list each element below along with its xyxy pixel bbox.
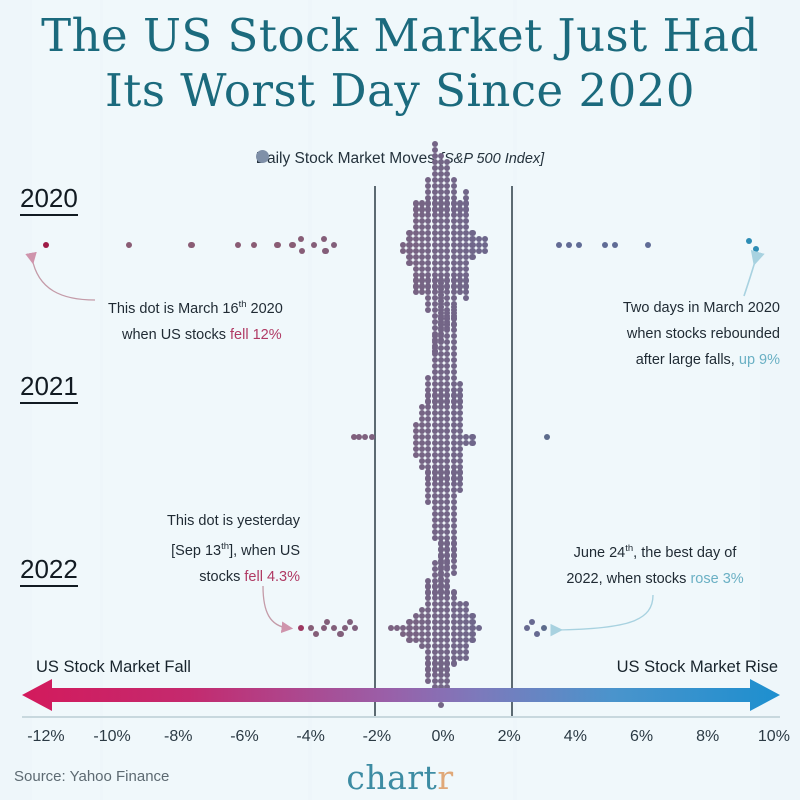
swarm-dot [432,236,438,242]
swarm-dot [463,260,469,266]
swarm-dot [432,428,438,434]
swarm-dot [444,195,450,201]
swarm-dot [444,206,450,212]
swarm-dot [432,572,438,578]
swarm-dot [331,242,337,248]
swarm-dot [425,206,431,212]
swarm-dot [432,266,438,272]
swarm-dot [451,422,457,428]
swarm-dot [469,236,475,242]
axis-tick: 4% [564,728,587,746]
swarm-dot [438,595,444,601]
annotation-rebound-line1: Two days in March 2020 [500,295,780,321]
arrow-june24 [556,595,653,630]
swarm-dot [476,625,482,631]
swarm-dot [451,523,457,529]
swarm-dot [438,398,444,404]
swarm-dot [425,254,431,260]
swarm-dot [566,242,572,248]
swarm-dot [444,345,450,351]
swarm-dot [413,619,419,625]
swarm-dot [369,434,375,440]
swarm-dot [444,363,450,369]
year-label-2021: 2021 [20,371,78,404]
swarm-dot [482,236,488,242]
swarm-dot [612,242,618,248]
swarm-dot [438,613,444,619]
swarm-dot [432,458,438,464]
swarm-dot [451,183,457,189]
swarm-dot [451,333,457,339]
swarm-dot [444,212,450,218]
swarm-dot [534,631,540,637]
swarm-dot [425,410,431,416]
swarm-dot [451,637,457,643]
year-label-2020: 2020 [20,183,78,216]
swarm-dot [432,452,438,458]
swarm-dot [438,452,444,458]
swarm-dot [419,236,425,242]
annotation-yesterday: This dot is yesterday [Sep 13th], when U… [60,508,300,590]
swarm-dot [235,242,241,248]
swarm-dot [463,637,469,643]
swarm-dot [400,631,406,637]
swarm-dot [444,165,450,171]
swarm-dot [298,625,304,631]
swarm-dot [444,452,450,458]
swarm-dot [451,254,457,260]
swarm-dot [451,177,457,183]
swarm-dot [444,595,450,601]
swarm-dot [438,292,444,298]
swarm-dot [438,266,444,272]
swarm-dot [432,183,438,189]
swarm-dot [413,422,419,428]
swarm-dot [432,637,438,643]
swarm-dot [457,218,463,224]
swarm-dot [419,266,425,272]
swarm-dot [425,637,431,643]
swarm-dot [438,200,444,206]
swarm-dot [451,398,457,404]
swarm-dot [469,637,475,643]
swarm-dot [451,660,457,666]
swarm-dot [432,607,438,613]
swarm-dot [457,224,463,230]
swarm-dot [438,458,444,464]
swarm-dot [444,589,450,595]
axis-left-label: US Stock Market Fall [36,658,191,677]
page-title: The US Stock Market Just Had Its Worst D… [0,8,800,118]
swarm-dot [419,637,425,643]
swarm-dot [438,218,444,224]
swarm-dot [451,339,457,345]
swarm-dot [425,177,431,183]
swarm-dot [444,260,450,266]
swarm-dot [444,254,450,260]
swarm-dot [425,613,431,619]
swarm-dot [438,171,444,177]
swarm-dot [432,578,438,584]
swarm-dot [438,165,444,171]
swarm-dot [432,260,438,266]
swarm-dot [425,266,431,272]
swarm-dot [457,392,463,398]
swarm-dot [438,572,444,578]
swarm-dot [432,375,438,381]
swarm-dot [457,236,463,242]
swarm-dot [544,434,550,440]
swarm-dot [432,177,438,183]
swarm-dot [469,230,475,236]
swarm-dot [251,242,257,248]
swarm-dot [413,446,419,452]
swarm-dot [451,357,457,363]
annotation-march16-line1: This dot is March 16th 2020 [108,292,283,322]
swarm-dot [324,619,330,625]
swarm-dot [432,165,438,171]
swarm-dot [188,242,194,248]
swarm-dot [444,369,450,375]
swarm-dot [432,369,438,375]
swarm-dot [419,613,425,619]
swarm-dot [432,446,438,452]
swarm-dot [432,345,438,351]
swarm-dot [444,458,450,464]
swarm-dot [432,613,438,619]
swarm-dot [342,625,348,631]
swarm-dot [308,625,314,631]
swarm-dot [438,345,444,351]
swarm-dot [438,230,444,236]
swarm-dot [451,236,457,242]
swarm-dot [438,310,444,316]
swarm-dot [457,404,463,410]
swarm-dot [425,595,431,601]
swarm-dot [451,230,457,236]
swarm-dot [419,254,425,260]
swarm-dot [444,613,450,619]
swarm-dot [425,200,431,206]
arrow-rebound [744,258,756,296]
fall-value: fell 12% [230,327,282,343]
swarm-dot [463,218,469,224]
legend-label: Daily Stock Market Moves [256,150,435,167]
swarm-dot [451,212,457,218]
swarm-dot [362,434,368,440]
axis-tick: 8% [696,728,719,746]
swarm-dot [463,655,469,661]
swarm-dot [444,224,450,230]
swarm-dot [413,206,419,212]
swarm-dot [645,242,651,248]
swarm-dot [432,404,438,410]
swarm-dot [438,369,444,375]
annotation-rebound-line3: after large falls, up 9% [500,347,780,373]
swarm-dot [438,387,444,393]
swarm-dot [425,601,431,607]
fall-value: fell 4.3% [244,569,300,585]
swarm-dot [438,428,444,434]
swarm-dot [444,572,450,578]
swarm-dot [432,589,438,595]
annotation-yesterday-line2: [Sep 13th], when US [60,534,300,564]
swarm-dot [432,387,438,393]
swarm-dot [432,619,438,625]
swarm-dot [438,446,444,452]
logo-main: chart [346,758,437,797]
swarm-dot [425,260,431,266]
swarm-dot [451,375,457,381]
swarm-dot [299,248,305,254]
axis-baseline [22,716,780,718]
swarm-dot [425,428,431,434]
swarm-dot [438,578,444,584]
swarm-dot [413,212,419,218]
swarm-dot [419,422,425,428]
swarm-dot [419,404,425,410]
swarm-dot [438,363,444,369]
swarm-dot [457,422,463,428]
swarm-dot [432,601,438,607]
swarm-dot [425,218,431,224]
swarm-dot [388,625,394,631]
swarm-dot [463,619,469,625]
swarm-dot [451,321,457,327]
annotation-yesterday-line3: stocks fell 4.3% [60,564,300,590]
swarm-dot [432,416,438,422]
swarm-dot [457,619,463,625]
swarm-dot [444,315,450,321]
swarm-dot [463,643,469,649]
swarm-dot [463,601,469,607]
rise-value: rose 3% [690,571,743,587]
swarm-dot [444,398,450,404]
swarm-dot [419,200,425,206]
swarm-dot [463,212,469,218]
swarm-dot [457,452,463,458]
swarm-dot [457,206,463,212]
swarm-dot [432,153,438,159]
swarm-dot [432,254,438,260]
swarm-dot [444,607,450,613]
swarm-dot [444,183,450,189]
swarm-dot [444,171,450,177]
swarm-dot [394,625,400,631]
swarm-dot [444,387,450,393]
swarm-dot [463,607,469,613]
swarm-dot [432,595,438,601]
axis-right-label: US Stock Market Rise [617,658,778,677]
swarm-dot [457,289,463,295]
swarm-dot [451,607,457,613]
swarm-dot [457,458,463,464]
legend: Daily Stock Market Moves[S&P 500 Index] [0,150,800,168]
swarm-dot [438,560,444,566]
axis-tick: -12% [27,728,64,746]
annotation-march16: This dot is March 16th 2020 when US stoc… [108,292,283,348]
swarm-dot [444,230,450,236]
arrow-march16 [32,258,95,300]
swarm-dot [451,458,457,464]
gradient-arrow-bar [22,678,780,712]
swarm-dot [432,649,438,655]
swarm-dot [457,212,463,218]
swarm-dot [413,266,419,272]
swarm-dot [425,387,431,393]
swarm-dot [451,404,457,410]
swarm-dot [457,410,463,416]
swarm-dot [451,428,457,434]
swarm-dot [406,637,412,643]
swarm-dot [406,619,412,625]
axis-tick: -4% [296,728,324,746]
swarm-dot [438,554,444,560]
swarm-dot [451,200,457,206]
swarm-dot [576,242,582,248]
swarm-dot [444,601,450,607]
swarm-dot [444,200,450,206]
swarm-dot [432,535,438,541]
swarm-dot [432,392,438,398]
swarm-dot [438,177,444,183]
swarm-dot [425,452,431,458]
swarm-dot [438,183,444,189]
swarm-dot [419,458,425,464]
annotation-june24-line2: 2022, when stocks rose 3% [530,566,780,592]
swarm-dot [425,607,431,613]
annotation-rebound-line2: when stocks rebounded [500,321,780,347]
swarm-dot [444,637,450,643]
swarm-dot [457,487,463,493]
swarm-dot [425,195,431,201]
swarm-dot [444,529,450,535]
swarm-dot [457,398,463,404]
title-line-1: The US Stock Market Just Had [41,9,759,62]
swarm-dot [457,446,463,452]
axis-tick: -10% [93,728,130,746]
chartr-logo: chartr [0,758,800,797]
swarm-dot [432,523,438,529]
swarm-dot [457,387,463,393]
swarm-dot [425,404,431,410]
swarm-dot [463,649,469,655]
swarm-dot [419,643,425,649]
swarm-dot [413,254,419,260]
swarm-dot [457,381,463,387]
swarm-dot [425,183,431,189]
swarm-dot [463,206,469,212]
swarm-dot [438,286,444,292]
swarm-dot [438,304,444,310]
swarm-dot [438,339,444,345]
swarm-dot [425,589,431,595]
swarm-dot [444,357,450,363]
title-line-2: Its Worst Day Since 2020 [0,63,800,118]
swarm-dot [451,649,457,655]
swarm-dot [451,410,457,416]
swarm-dot [419,607,425,613]
swarm-dot [432,381,438,387]
swarm-dot [406,230,412,236]
rise-value: up 9% [739,352,780,368]
swarm-dot [451,446,457,452]
swarm-dot [451,643,457,649]
swarm-dot [463,189,469,195]
arrow-yesterday [263,586,288,628]
swarm-dot [444,416,450,422]
swarm-dot [425,230,431,236]
swarm-dot [425,643,431,649]
swarm-dot [337,631,343,637]
swarm-dot [451,619,457,625]
axis-tick: 0% [431,728,454,746]
swarm-dot [413,613,419,619]
swarm-dot [419,289,425,295]
swarm-dot [413,200,419,206]
swarm-dot [444,566,450,572]
swarm-dot [419,410,425,416]
swarm-dot [451,613,457,619]
swarm-dot [419,464,425,470]
swarm-dot [444,333,450,339]
swarm-dot [444,523,450,529]
swarm-dot [451,195,457,201]
swarm-dot [457,649,463,655]
swarm-dot [438,637,444,643]
axis-tick: 2% [498,728,521,746]
swarm-dot [419,452,425,458]
swarm-dot [331,625,337,631]
swarm-dot [438,523,444,529]
swarm-dot [444,375,450,381]
swarm-dot [425,375,431,381]
swarm-dot [482,248,488,254]
swarm-dot [413,452,419,458]
gridline-minus-2pct [374,186,376,716]
swarm-dot [419,416,425,422]
swarm-dot [438,236,444,242]
swarm-dot [356,434,362,440]
gridline-plus-2pct [511,186,513,716]
swarm-dot [438,392,444,398]
logo-accent: r [437,758,453,797]
swarm-dot [457,200,463,206]
annotation-june24-line1: June 24th, the best day of [530,536,780,566]
swarm-dot [451,381,457,387]
swarm-dot [444,410,450,416]
swarm-dot [413,428,419,434]
swarm-dot [438,357,444,363]
swarm-dot [451,363,457,369]
legend-dot-icon [256,150,269,163]
swarm-dot [444,578,450,584]
swarm-dot [438,298,444,304]
swarm-dot [457,428,463,434]
swarm-dot [529,619,535,625]
swarm-dot [419,224,425,230]
swarm-dot [438,583,444,589]
swarm-dot [451,345,457,351]
swarm-dot [457,607,463,613]
swarm-dot [313,631,319,637]
swarm-dot [432,189,438,195]
swarm-dot [444,266,450,272]
swarm-dot [419,446,425,452]
swarm-dot [451,304,457,310]
swarm-dot [347,619,353,625]
swarm-dot [406,254,412,260]
